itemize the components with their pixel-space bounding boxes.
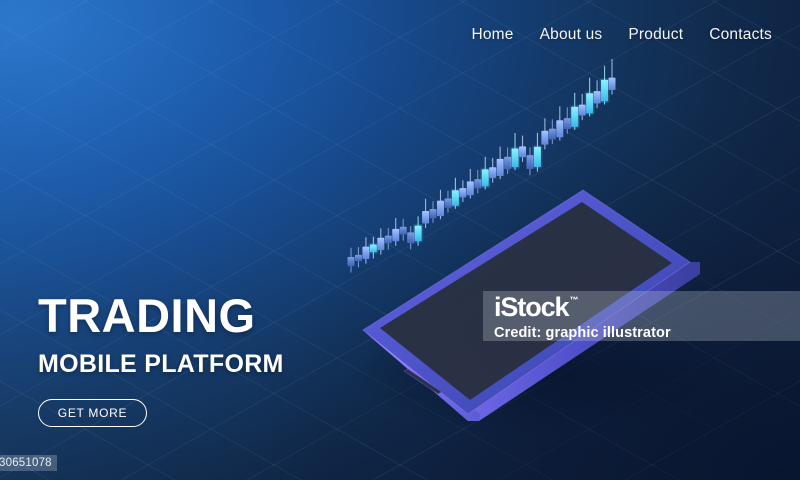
candle-body	[348, 257, 355, 266]
watermark-asset-id: 30651078	[0, 455, 57, 471]
candle-body	[549, 129, 556, 140]
trademark-icon: ™	[569, 296, 578, 305]
istock-logo: iStock ™	[494, 294, 578, 321]
candle-body	[609, 78, 616, 90]
get-more-button[interactable]: GET MORE	[38, 399, 147, 427]
nav-item-contacts[interactable]: Contacts	[709, 26, 772, 44]
candle-body	[400, 227, 407, 235]
candle-group	[348, 59, 616, 273]
candle-body	[467, 181, 474, 195]
candle-body	[482, 169, 489, 186]
nav-item-home[interactable]: Home	[471, 26, 513, 44]
candle-body	[452, 190, 459, 206]
main-navigation[interactable]: Home About us Product Contacts	[471, 26, 772, 44]
candle-body	[497, 159, 504, 176]
candle-body	[437, 201, 444, 217]
candle-body	[489, 167, 496, 178]
candle-body	[512, 148, 519, 167]
candle-body	[601, 80, 608, 102]
candle-body	[541, 131, 548, 145]
page-subtitle: MOBILE PLATFORM	[38, 352, 284, 377]
candle-body	[377, 238, 384, 250]
candle-body	[534, 147, 541, 167]
watermark-credit: Credit: graphic illustrator	[494, 325, 671, 341]
candle-body	[459, 188, 466, 197]
candle-body	[392, 229, 399, 241]
candle-body	[556, 120, 563, 137]
candle-body	[430, 209, 437, 218]
candle-body	[385, 236, 392, 244]
candle-body	[355, 255, 362, 261]
candle-body	[370, 244, 377, 252]
hero-section: TRADING MOBILE PLATFORM GET MORE	[38, 292, 284, 427]
page-title: TRADING	[38, 292, 284, 339]
nav-item-product[interactable]: Product	[628, 26, 683, 44]
candle-body	[571, 107, 578, 127]
candle-body	[422, 211, 429, 223]
nav-item-about-us[interactable]: About us	[540, 26, 603, 44]
landing-page-stage: Home About us Product Contacts TRADING M…	[0, 0, 800, 480]
candle-body	[415, 226, 422, 242]
istock-logo-text: iStock	[494, 294, 568, 321]
candle-body	[586, 93, 593, 113]
candle-body	[519, 146, 526, 157]
